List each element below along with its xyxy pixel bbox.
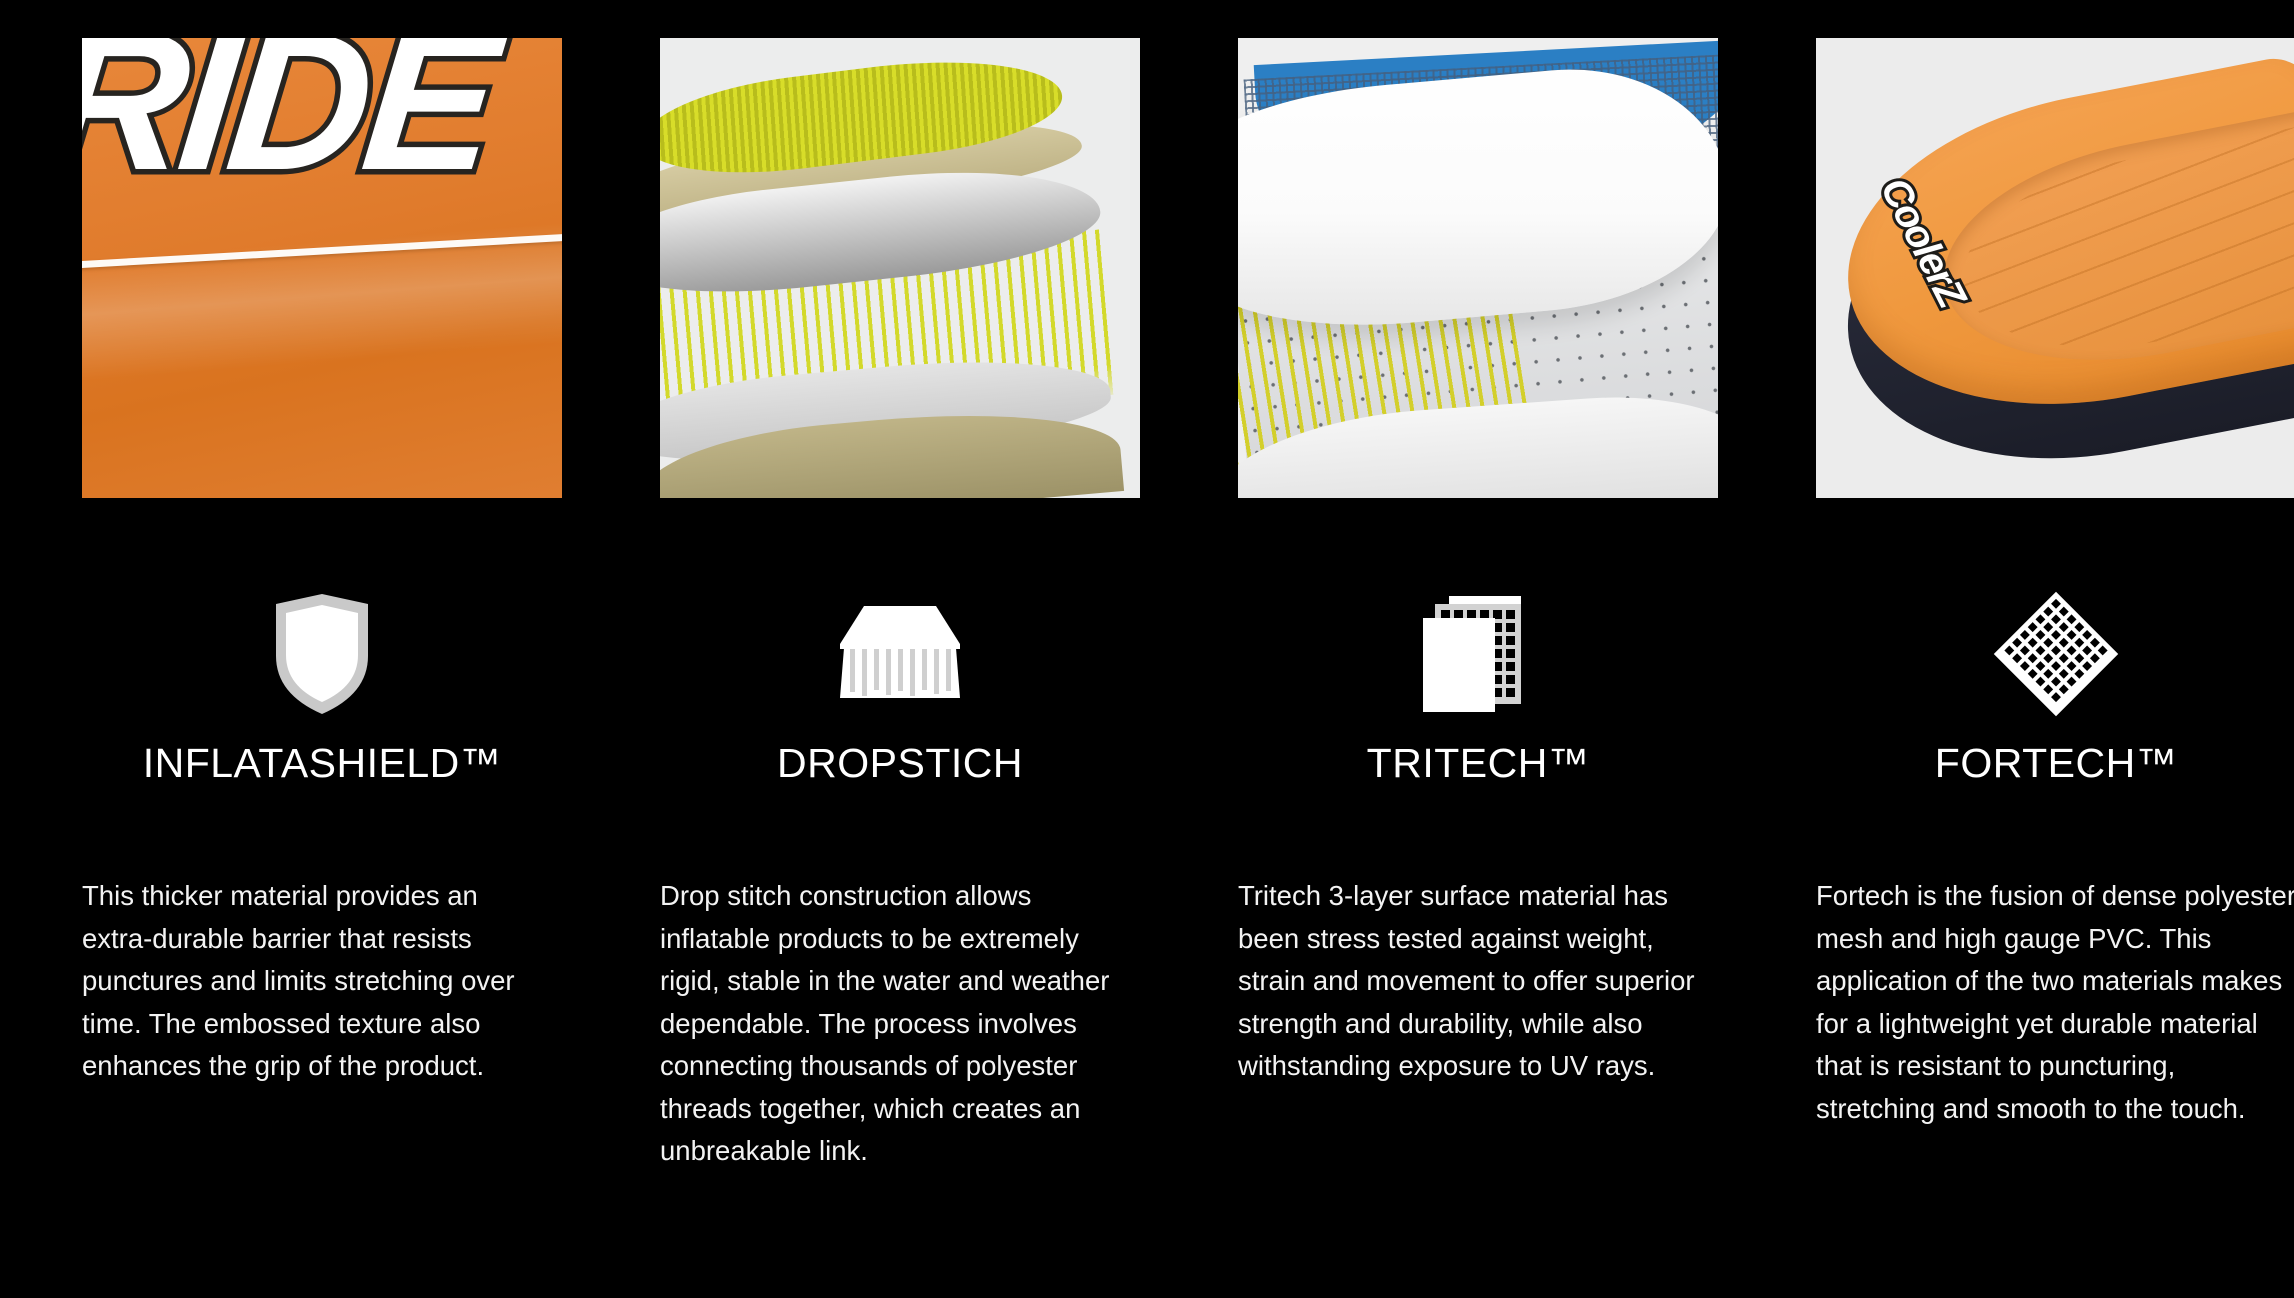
feature-description-wrap-tritech: Tritech 3-layer surface material has bee… <box>1238 875 1708 1088</box>
dropstitch-layers-icon <box>660 584 1140 724</box>
feature-description-tritech: Tritech 3-layer surface material has bee… <box>1238 875 1708 1088</box>
feature-column-inflatashield: RIDE INFLATASHIELD™ This thicker materia… <box>82 38 640 1298</box>
feature-description-wrap-inflatashield: This thicker material provides an extra-… <box>82 875 552 1088</box>
product-image-orange-ride-board: RIDE <box>82 38 562 498</box>
feature-column-fortech: CoolerZ <box>1816 38 2294 1298</box>
feature-title-tritech: TRITECH™ <box>1238 740 1718 787</box>
feature-description-dropstich: Drop stitch construction allows inflatab… <box>660 875 1130 1173</box>
product-image-coolerz-lounge: CoolerZ <box>1816 38 2294 498</box>
shield-icon <box>82 584 562 724</box>
board-ride-wordmark: RIDE <box>82 38 501 200</box>
feature-description-wrap-dropstich: Drop stitch construction allows inflatab… <box>660 875 1130 1173</box>
feature-description-inflatashield: This thicker material provides an extra-… <box>82 875 552 1088</box>
feature-title-fortech: FORTECH™ <box>1816 740 2294 787</box>
feature-materials-page: RIDE INFLATASHIELD™ This thicker materia… <box>0 0 2294 1298</box>
product-image-dropstitch-render <box>660 38 1140 498</box>
product-image-tritech-render <box>1238 38 1718 498</box>
feature-column-tritech: TRITECH™ Tritech 3-layer surface materia… <box>1238 38 1796 1298</box>
feature-description-wrap-fortech: Fortech is the fusion of dense polyester… <box>1816 875 2294 1130</box>
feature-grid: RIDE INFLATASHIELD™ This thicker materia… <box>0 0 2294 1298</box>
feature-description-fortech: Fortech is the fusion of dense polyester… <box>1816 875 2294 1130</box>
feature-title-inflatashield: INFLATASHIELD™ <box>82 740 562 787</box>
feature-title-dropstich: DROPSTICH <box>660 740 1140 787</box>
diamond-mesh-icon <box>1816 584 2294 724</box>
three-layer-sheets-icon <box>1238 584 1718 724</box>
feature-column-dropstich: DROPSTICH Drop stitch construction allow… <box>660 38 1218 1298</box>
